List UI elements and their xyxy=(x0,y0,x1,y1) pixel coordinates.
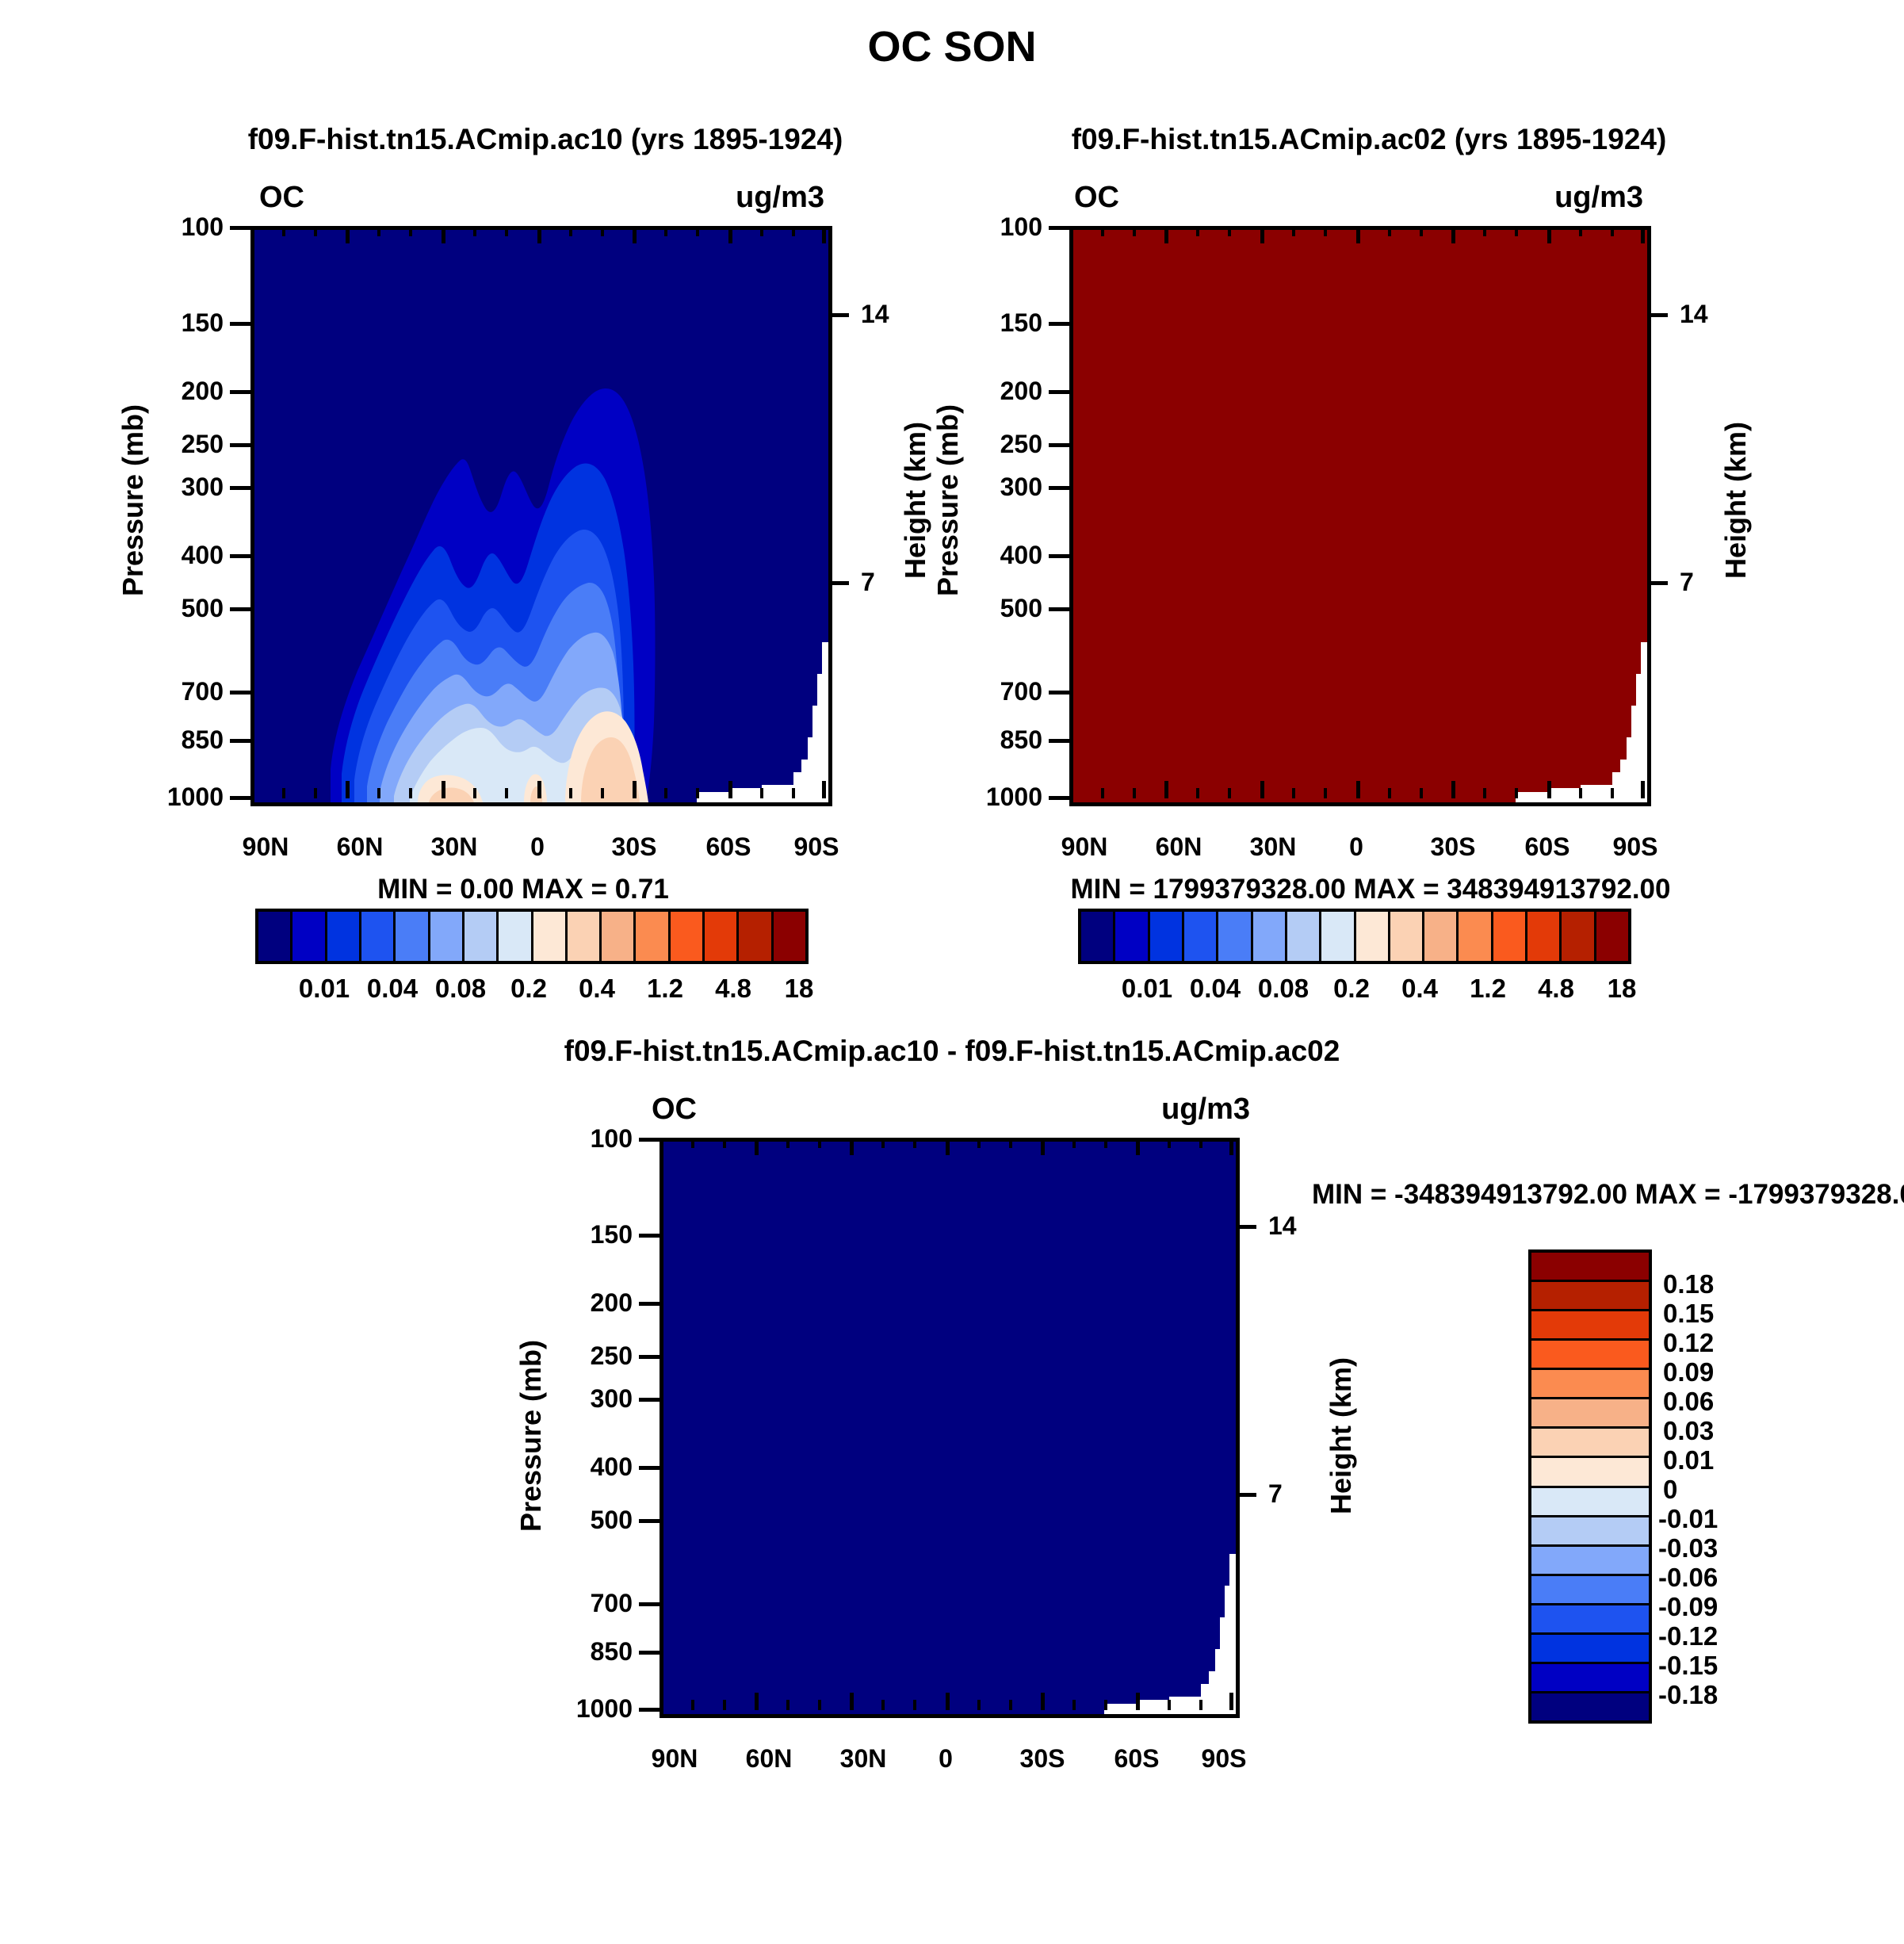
cbar-b-cell-14 xyxy=(1562,912,1596,961)
panel-c-cbar-label-1: 0.15 xyxy=(1663,1299,1714,1329)
panel-a-cbar-label-6: 4.8 xyxy=(715,974,751,1004)
panel-c-y2tick-14: 14 xyxy=(1268,1211,1297,1241)
panel-c-cbar-label-12: -0.12 xyxy=(1658,1621,1718,1651)
panel-a-y-axis-label: Pressure (mb) xyxy=(117,358,150,643)
panel-b-ytick-400: 400 xyxy=(1000,541,1042,570)
panel-c-title: f09.F-hist.tn15.ACmip.ac10 - f09.F-hist.… xyxy=(564,1035,1340,1068)
panel-a-y2tick-14: 14 xyxy=(861,300,889,329)
panel-c-y2-axis-label: Height (km) xyxy=(1325,1293,1358,1579)
panel-c-minmax: MIN = -348394913792.00 MAX = -1799379328… xyxy=(1312,1179,1904,1211)
cbar-cell-9 xyxy=(568,912,602,961)
panel-c-xtick-0: 0 xyxy=(939,1744,953,1774)
cbarv-cell-2 xyxy=(1531,1311,1649,1341)
panel-c-cbar-label-6: 0.01 xyxy=(1663,1445,1714,1475)
panel-c-cbar-label-0: 0.18 xyxy=(1663,1269,1714,1299)
cbar-b-cell-15 xyxy=(1596,912,1628,961)
cbar-b-cell-13 xyxy=(1527,912,1562,961)
panel-b-y-axis-label: Pressure (mb) xyxy=(931,358,965,643)
panel-a-plot[interactable] xyxy=(250,226,832,806)
panel-b-ytick-700: 700 xyxy=(1000,677,1042,706)
cbar-b-cell-9 xyxy=(1390,912,1424,961)
panel-a-cbar-label-5: 1.2 xyxy=(647,974,683,1004)
cbar-cell-6 xyxy=(465,912,499,961)
cbar-b-cell-6 xyxy=(1287,912,1321,961)
cbar-cell-7 xyxy=(499,912,533,961)
panel-b-cbar-label-1: 0.04 xyxy=(1190,974,1241,1004)
panel-b-ytick-100: 100 xyxy=(1000,212,1042,242)
panel-b-ytick-300: 300 xyxy=(1000,473,1042,502)
panel-b-left-header: OC xyxy=(1074,181,1119,215)
panel-c-xtick-60S: 60S xyxy=(1114,1744,1160,1774)
panel-b-title: f09.F-hist.tn15.ACmip.ac02 (yrs 1895-192… xyxy=(1072,123,1667,156)
panel-b-y2tick-7: 7 xyxy=(1680,568,1694,597)
cbarv-cell-4 xyxy=(1531,1370,1649,1399)
cbar-b-cell-0 xyxy=(1081,912,1115,961)
cbar-b-cell-8 xyxy=(1356,912,1390,961)
cbarv-cell-7 xyxy=(1531,1458,1649,1487)
panel-b-y2-axis-label: Height (km) xyxy=(1719,358,1753,643)
panel-b-ytick-850: 850 xyxy=(1000,725,1042,755)
panel-c-ytick-700: 700 xyxy=(591,1589,633,1618)
cbar-b-cell-2 xyxy=(1150,912,1184,961)
cbarv-cell-1 xyxy=(1531,1282,1649,1311)
panel-c-ytick-250: 250 xyxy=(591,1341,633,1371)
cbar-cell-0 xyxy=(258,912,292,961)
cbar-b-cell-12 xyxy=(1493,912,1527,961)
panel-a-xtick-30N: 30N xyxy=(431,832,478,862)
panel-b-right-header: ug/m3 xyxy=(1554,181,1643,215)
panel-c-cbar-label-8: -0.01 xyxy=(1658,1504,1718,1534)
panel-b-ytick-1000: 1000 xyxy=(986,783,1042,812)
cbarv-cell-15 xyxy=(1531,1693,1649,1720)
cbar-cell-15 xyxy=(774,912,805,961)
cbar-cell-3 xyxy=(361,912,396,961)
panel-a-left-header: OC xyxy=(259,181,304,215)
cbar-b-cell-3 xyxy=(1184,912,1218,961)
panel-a-ytick-500: 500 xyxy=(182,594,224,623)
panel-c-y2tick-7: 7 xyxy=(1268,1479,1283,1509)
panel-c-ytick-150: 150 xyxy=(591,1220,633,1249)
cbar-b-cell-1 xyxy=(1115,912,1149,961)
panel-a-cbar-label-2: 0.08 xyxy=(435,974,486,1004)
panel-b-ytick-500: 500 xyxy=(1000,594,1042,623)
panel-b-cbar-label-4: 0.4 xyxy=(1401,974,1438,1004)
panel-a-ytick-400: 400 xyxy=(182,541,224,570)
panel-b-cbar-label-6: 4.8 xyxy=(1538,974,1574,1004)
panel-b-cbar-label-0: 0.01 xyxy=(1122,974,1172,1004)
cbar-b-cell-5 xyxy=(1253,912,1287,961)
panel-c-ytick-1000: 1000 xyxy=(576,1694,633,1724)
panel-a-xtick-90S: 90S xyxy=(794,832,839,862)
cbar-cell-5 xyxy=(430,912,465,961)
panel-a-xtick-30S: 30S xyxy=(612,832,657,862)
cbarv-cell-9 xyxy=(1531,1517,1649,1547)
cbar-cell-2 xyxy=(327,912,361,961)
panel-a-contour-field xyxy=(254,230,828,802)
figure-main-title: OC SON xyxy=(867,22,1036,71)
cbar-cell-11 xyxy=(636,912,670,961)
cbarv-cell-6 xyxy=(1531,1429,1649,1458)
panel-b-minmax: MIN = 1799379328.00 MAX = 348394913792.0… xyxy=(1071,874,1671,905)
panel-c-cbar-label-5: 0.03 xyxy=(1663,1416,1714,1446)
panel-c-cbar-label-14: -0.18 xyxy=(1658,1680,1718,1710)
panel-a-ytick-300: 300 xyxy=(182,473,224,502)
panel-c-y-axis-label: Pressure (mb) xyxy=(514,1293,548,1579)
cbarv-cell-14 xyxy=(1531,1664,1649,1693)
panel-c-xtick-30S: 30S xyxy=(1020,1744,1065,1774)
cbar-b-cell-4 xyxy=(1218,912,1252,961)
panel-a-title: f09.F-hist.tn15.ACmip.ac10 (yrs 1895-192… xyxy=(248,123,843,156)
cbarv-cell-0 xyxy=(1531,1253,1649,1282)
cbar-cell-14 xyxy=(739,912,773,961)
panel-c-ytick-300: 300 xyxy=(591,1384,633,1414)
panel-c-cbar-label-2: 0.12 xyxy=(1663,1328,1714,1358)
panel-b-xtick-90N: 90N xyxy=(1061,832,1108,862)
panel-c-ytick-100: 100 xyxy=(591,1124,633,1154)
panel-c-xtick-90S: 90S xyxy=(1202,1744,1247,1774)
cbar-cell-10 xyxy=(602,912,636,961)
panel-a-xtick-90N: 90N xyxy=(243,832,289,862)
panel-b-xtick-60N: 60N xyxy=(1156,832,1202,862)
panel-c-cbar-label-10: -0.06 xyxy=(1658,1563,1718,1593)
panel-a-ytick-150: 150 xyxy=(182,308,224,338)
panel-b-cbar-label-5: 1.2 xyxy=(1470,974,1506,1004)
cbarv-cell-3 xyxy=(1531,1341,1649,1370)
panel-b-xtick-60S: 60S xyxy=(1525,832,1570,862)
panel-b-ytick-150: 150 xyxy=(1000,308,1042,338)
panel-a-cbar-label-3: 0.2 xyxy=(510,974,547,1004)
panel-c-xtick-60N: 60N xyxy=(746,1744,793,1774)
cbar-cell-13 xyxy=(705,912,739,961)
cbarv-cell-11 xyxy=(1531,1576,1649,1605)
cbar-cell-4 xyxy=(396,912,430,961)
panel-a-y2tick-7: 7 xyxy=(861,568,875,597)
cbarv-cell-8 xyxy=(1531,1488,1649,1517)
cbarv-cell-10 xyxy=(1531,1547,1649,1576)
cbarv-cell-12 xyxy=(1531,1605,1649,1635)
panel-a-minmax: MIN = 0.00 MAX = 0.71 xyxy=(377,874,669,905)
panel-b-xtick-30N: 30N xyxy=(1250,832,1297,862)
panel-c-cbar-label-7: 0 xyxy=(1663,1475,1677,1505)
panel-b-ytick-200: 200 xyxy=(1000,377,1042,406)
cbar-cell-8 xyxy=(533,912,568,961)
panel-b-y2tick-14: 14 xyxy=(1680,300,1708,329)
panel-b-contour-field xyxy=(1073,230,1647,802)
panel-a-cbar-label-7: 18 xyxy=(785,974,814,1004)
panel-c-ytick-500: 500 xyxy=(591,1506,633,1535)
panel-c-plot[interactable] xyxy=(660,1138,1240,1718)
panel-c-xtick-30N: 30N xyxy=(840,1744,887,1774)
panel-a-ytick-850: 850 xyxy=(182,725,224,755)
panel-a-cbar-label-0: 0.01 xyxy=(299,974,350,1004)
panel-a-cbar-label-4: 0.4 xyxy=(579,974,615,1004)
panel-c-ytick-200: 200 xyxy=(591,1288,633,1318)
panel-c-ytick-400: 400 xyxy=(591,1452,633,1482)
panel-c-xtick-90N: 90N xyxy=(652,1744,698,1774)
panel-b-cbar-label-2: 0.08 xyxy=(1258,974,1309,1004)
panel-c-cbar-label-4: 0.06 xyxy=(1663,1387,1714,1417)
panel-b-ytick-250: 250 xyxy=(1000,430,1042,459)
panel-b-cbar-label-3: 0.2 xyxy=(1333,974,1370,1004)
panel-b-colorbar[interactable] xyxy=(1078,909,1631,964)
panel-a-ytick-700: 700 xyxy=(182,677,224,706)
cbarv-cell-13 xyxy=(1531,1635,1649,1664)
panel-a-right-header: ug/m3 xyxy=(736,181,824,215)
panel-a-colorbar[interactable] xyxy=(255,909,809,964)
panel-b-xtick-0: 0 xyxy=(1349,832,1363,862)
panel-c-right-header: ug/m3 xyxy=(1161,1093,1250,1127)
panel-a-ytick-1000: 1000 xyxy=(167,783,224,812)
cbarv-cell-5 xyxy=(1531,1399,1649,1429)
cbar-b-cell-11 xyxy=(1459,912,1493,961)
panel-a-ytick-200: 200 xyxy=(182,377,224,406)
panel-a-y2-axis-label: Height (km) xyxy=(899,358,932,643)
cbar-cell-1 xyxy=(292,912,327,961)
panel-c-cbar-label-9: -0.03 xyxy=(1658,1533,1718,1563)
cbar-cell-12 xyxy=(671,912,705,961)
panel-b-xtick-90S: 90S xyxy=(1613,832,1658,862)
panel-c-ytick-850: 850 xyxy=(591,1637,633,1667)
panel-a-xtick-60S: 60S xyxy=(706,832,751,862)
panel-a-ytick-250: 250 xyxy=(182,430,224,459)
panel-c-cbar-label-11: -0.09 xyxy=(1658,1592,1718,1622)
panel-a-xtick-0: 0 xyxy=(530,832,545,862)
panel-c-contour-field xyxy=(663,1142,1236,1714)
panel-c-cbar-label-3: 0.09 xyxy=(1663,1357,1714,1387)
cbar-b-cell-7 xyxy=(1321,912,1355,961)
panel-c-cbar-label-13: -0.15 xyxy=(1658,1651,1718,1681)
panel-c-left-header: OC xyxy=(652,1093,697,1127)
panel-a-xtick-60N: 60N xyxy=(337,832,384,862)
panel-c-colorbar[interactable] xyxy=(1528,1249,1652,1724)
panel-b-cbar-label-7: 18 xyxy=(1608,974,1637,1004)
panel-a-cbar-label-1: 0.04 xyxy=(367,974,418,1004)
panel-a-ytick-100: 100 xyxy=(182,212,224,242)
panel-b-plot[interactable] xyxy=(1069,226,1651,806)
cbar-b-cell-10 xyxy=(1424,912,1459,961)
panel-b-xtick-30S: 30S xyxy=(1431,832,1476,862)
